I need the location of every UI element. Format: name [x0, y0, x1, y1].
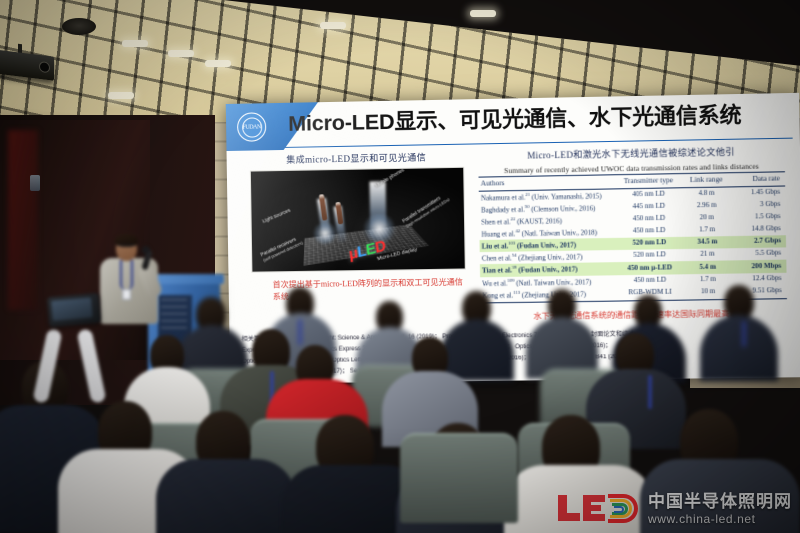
- conference-photo: FUDAN Micro-LED显示、可见光通信、水下光通信系统 集成micro-…: [0, 0, 800, 533]
- shoulders: [156, 459, 296, 533]
- left-caption: 集成micro-LED显示和可见光通信: [245, 150, 469, 167]
- watermark-site-name: 中国半导体照明网: [648, 493, 792, 510]
- phone-taking-photo: [40, 295, 100, 415]
- ceiling-light: [205, 60, 231, 67]
- right-caption: Micro-LED和激光水下无线光通信被综述论文他引: [478, 144, 785, 163]
- lanyard: [648, 375, 652, 409]
- seal-label: FUDAN: [242, 117, 262, 137]
- col-header-transmitter: Transmitter type: [615, 174, 682, 189]
- cell-link-range: 2.96 m: [682, 199, 732, 212]
- cell-link-range: 4.8 m: [682, 187, 732, 201]
- slide-header: FUDAN Micro-LED显示、可见光通信、水下光通信系统: [226, 93, 800, 151]
- led-logo-icon: [558, 491, 642, 527]
- ceiling-downlight: [62, 18, 96, 35]
- shoulders: [440, 319, 514, 381]
- raised-arm: [76, 328, 106, 404]
- lanyard: [742, 321, 746, 347]
- lanyard: [298, 319, 302, 345]
- cell-transmitter-type: 450 nm LD: [616, 212, 683, 225]
- wall-sign: [30, 175, 40, 191]
- ceiling-light: [122, 40, 148, 47]
- cell-link-range: 20 m: [682, 212, 732, 225]
- figure-label-light-sources: Light sources: [261, 208, 291, 225]
- shoulders: [700, 315, 778, 381]
- figure-label-parallel-transmitters: Parallel transmitters (high-resolution m…: [401, 192, 450, 229]
- phone-screen: [51, 297, 93, 320]
- site-watermark: 中国半导体照明网 www.china-led.net: [558, 491, 792, 527]
- ceiling-light: [470, 10, 496, 17]
- ceiling-light: [108, 92, 134, 99]
- ceiling-light: [320, 22, 346, 29]
- slide-title: Micro-LED显示、可见光通信、水下光通信系统: [288, 98, 742, 138]
- smartphone: [47, 293, 101, 327]
- cell-data-rate: 1.5 Gbps: [732, 211, 786, 224]
- col-header-data-rate: Data rate: [731, 172, 785, 187]
- audience: [0, 233, 800, 533]
- chair: [400, 433, 518, 523]
- cell-data-rate: 3 Gbps: [731, 198, 785, 211]
- watermark-url: www.china-led.net: [648, 513, 792, 525]
- cell-transmitter-type: 405 nm LD: [615, 187, 682, 201]
- figure-label-mobile-phones: Mobile phones: [374, 167, 405, 189]
- ceiling-light: [168, 50, 194, 57]
- cell-data-rate: 1.45 Gbps: [731, 186, 785, 200]
- col-header-link-range: Link range: [682, 173, 732, 188]
- projector-lens-icon: [39, 61, 50, 73]
- cell-transmitter-type: 445 nm LD: [615, 200, 682, 213]
